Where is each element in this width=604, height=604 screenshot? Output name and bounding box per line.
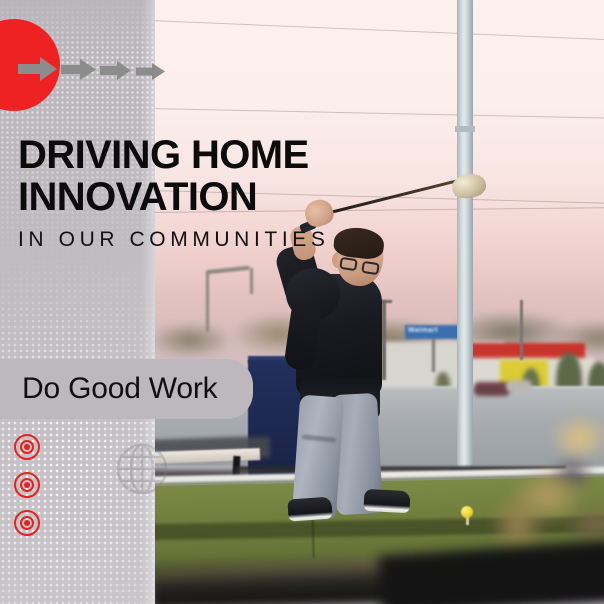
bullseye-target-icon [14,434,40,460]
golf-club-shaft [318,178,462,217]
golf-club-head [450,172,487,200]
eyeglasses-lens [339,257,358,272]
bullseye-target-icon [14,510,40,536]
golfer-shoe [287,496,332,521]
golfer-shoe [363,489,410,513]
tagline-panel: Do Good Work [0,359,253,419]
bullseye-target-icon [14,472,40,498]
foreground-bokeh-object [492,404,604,564]
arrow-right-icon [61,58,97,81]
arrow-right-icon [136,62,166,81]
arrow-right-icon [18,56,58,82]
tagline-label: Do Good Work [22,372,217,406]
panel-edge-highlight [141,0,155,604]
bullseye-icon-group [14,434,40,548]
arrow-right-icon [100,60,132,81]
poster-canvas: Walmart [0,0,604,604]
eyeglasses-lens [361,261,380,276]
globe-wireframe-icon [116,443,168,495]
